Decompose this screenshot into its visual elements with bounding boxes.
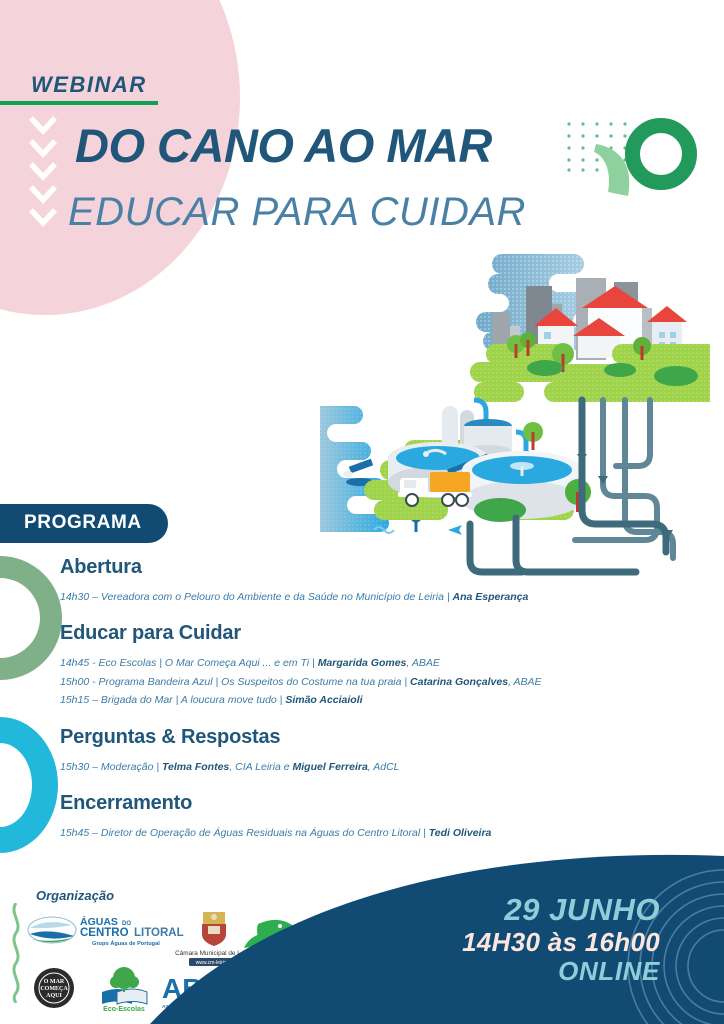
- svg-text:Câmara Municipal de Leiria: Câmara Municipal de Leiria: [175, 950, 253, 957]
- line-time: 15h30: [60, 761, 89, 773]
- page-title: DO CANO AO MAR: [75, 118, 492, 173]
- svg-text:AMBIENTAL: AMBIENTAL: [306, 935, 348, 944]
- svg-text:LITORAL: LITORAL: [134, 927, 184, 939]
- line-time: 15h15: [60, 694, 89, 706]
- line-org: , CIA Leiria e: [229, 761, 292, 773]
- line-org-2: , AdCL: [368, 761, 400, 773]
- program-section-encerramento: Encerramento 15h45 – Diretor de Operação…: [60, 792, 660, 842]
- line-speaker: Margarida Gomes: [318, 657, 407, 669]
- line-speaker: Simão Acciaioli: [285, 694, 362, 706]
- program-section-educar-para-cuidar: Educar para Cuidar 14h45 - Eco Escolas |…: [60, 622, 660, 709]
- line-time: 15h00: [60, 676, 89, 688]
- green-ring-decoration: [625, 118, 697, 190]
- svg-text:ABAE: ABAE: [162, 973, 241, 1004]
- line-dash: –: [89, 591, 101, 603]
- line-time: 14h45: [60, 657, 89, 669]
- line-text: Vereadora com o Pelouro do Ambiente e da…: [101, 591, 453, 603]
- organizer-logos: ÁGUAS DO CENTRO LITORAL Grupo Águas de P…: [18, 908, 378, 1014]
- event-date-block: 29 JUNHO 14H30 às 16h00 ONLINE: [462, 893, 660, 986]
- svg-text:LEIRIA: LEIRIA: [314, 945, 337, 952]
- program-line: 15h15 – Brigada do Mar | A loucura move …: [60, 691, 660, 709]
- event-date: 29 JUNHO: [462, 893, 660, 928]
- green-underline: [0, 101, 158, 105]
- program-line: 14h45 - Eco Escolas | O Mar Começa Aqui …: [60, 654, 660, 672]
- svg-text:AQUI: AQUI: [46, 993, 62, 999]
- logo-camara-municipal-leiria: Câmara Municipal de Leiria www.cm-leiria…: [175, 912, 253, 966]
- line-text: Eco Escolas | O Mar Começa Aqui ... e em…: [99, 657, 318, 669]
- logo-aguas-centro-litoral: ÁGUAS DO CENTRO LITORAL Grupo Águas de P…: [28, 915, 184, 947]
- program-section-abertura: Abertura 14h30 – Vereadora com o Pelouro…: [60, 556, 660, 606]
- event-mode: ONLINE: [462, 957, 660, 986]
- section-heading: Perguntas & Respostas: [60, 726, 660, 749]
- program-line: 14h30 – Vereadora com o Pelouro do Ambie…: [60, 588, 660, 606]
- program-section-perguntas-respostas: Perguntas & Respostas 15h30 – Moderação …: [60, 726, 660, 776]
- line-dash: -: [89, 657, 98, 669]
- section-heading: Educar para Cuidar: [60, 622, 660, 645]
- line-text: Moderação |: [101, 761, 162, 773]
- logo-eco-escolas: Eco-Escolas: [102, 967, 147, 1013]
- line-dash: –: [89, 694, 101, 706]
- svg-text:COMEÇA: COMEÇA: [40, 986, 68, 992]
- line-time: 15h45: [60, 827, 89, 839]
- program-line: 15h00 - Programa Bandeira Azul | Os Susp…: [60, 673, 660, 691]
- pipe-network: [575, 400, 673, 558]
- logo-centro-interpretacao-ambiental-leiria: CENTRO DE INTERPRETAÇÃO AMBIENTAL LEIRIA: [244, 919, 368, 957]
- line-dash: –: [89, 761, 101, 773]
- organizacao-label: Organização: [36, 888, 114, 903]
- line-speaker-2: Miguel Ferreira: [293, 761, 368, 773]
- line-speaker: Telma Fontes: [162, 761, 229, 773]
- program-line: 15h30 – Moderação | Telma Fontes, CIA Le…: [60, 758, 660, 776]
- program-line: 15h45 – Diretor de Operação de Águas Res…: [60, 824, 660, 842]
- programa-badge: PROGRAMA: [0, 504, 168, 543]
- svg-text:Eco-Escolas: Eco-Escolas: [103, 1006, 145, 1013]
- line-speaker: Tedi Oliveira: [429, 827, 492, 839]
- chevron-down-icon: [27, 112, 59, 230]
- svg-text:ASSOCIAÇÃO BANDEIRA AZUL DA EU: ASSOCIAÇÃO BANDEIRA AZUL DA EUROPA: [162, 1003, 265, 1010]
- line-text: Programa Bandeira Azul | Os Suspeitos do…: [99, 676, 410, 688]
- kicker-webinar: WEBINAR: [31, 72, 147, 98]
- line-org: , ABAE: [508, 676, 541, 688]
- program-list: Abertura 14h30 – Vereadora com o Pelouro…: [60, 556, 660, 842]
- line-speaker: Ana Esperança: [452, 591, 528, 603]
- svg-text:www.cm-leiria.pt: www.cm-leiria.pt: [196, 960, 233, 966]
- cyan-ring-decoration: [0, 717, 58, 853]
- svg-text:O MAR: O MAR: [44, 979, 65, 985]
- page-subtitle: EDUCAR PARA CUIDAR: [68, 190, 526, 235]
- line-text: Diretor de Operação de Águas Residuais n…: [101, 827, 429, 839]
- event-time: 14H30 às 16h00: [462, 928, 660, 957]
- svg-text:DO: DO: [286, 992, 315, 1013]
- svg-text:CENTRO: CENTRO: [80, 927, 129, 939]
- line-dash: -: [89, 676, 98, 688]
- water-cycle-illustration: [320, 248, 724, 584]
- line-text: Brigada do Mar | A loucura move tudo |: [101, 694, 285, 706]
- section-heading: Encerramento: [60, 792, 660, 815]
- line-speaker: Catarina Gonçalves: [410, 676, 508, 688]
- line-dash: –: [89, 827, 101, 839]
- poster-canvas: WEBINAR DO CANO AO MAR EDUCAR PARA CUIDA…: [0, 0, 724, 1024]
- section-heading: Abertura: [60, 556, 660, 579]
- svg-text:Grupo Águas de Portugal: Grupo Águas de Portugal: [92, 940, 160, 947]
- sage-ring-decoration: [0, 556, 62, 680]
- line-org: , ABAE: [406, 657, 439, 669]
- logo-brigada-do-mar: BRIGADA DO MAR: [286, 972, 376, 1013]
- logo-abae: ABAE ASSOCIAÇÃO BANDEIRA AZUL DA EUROPA: [162, 972, 270, 1010]
- line-time: 14h30: [60, 591, 89, 603]
- logo-o-mar-comeca-aqui: O MAR COMEÇA AQUI: [34, 968, 74, 1008]
